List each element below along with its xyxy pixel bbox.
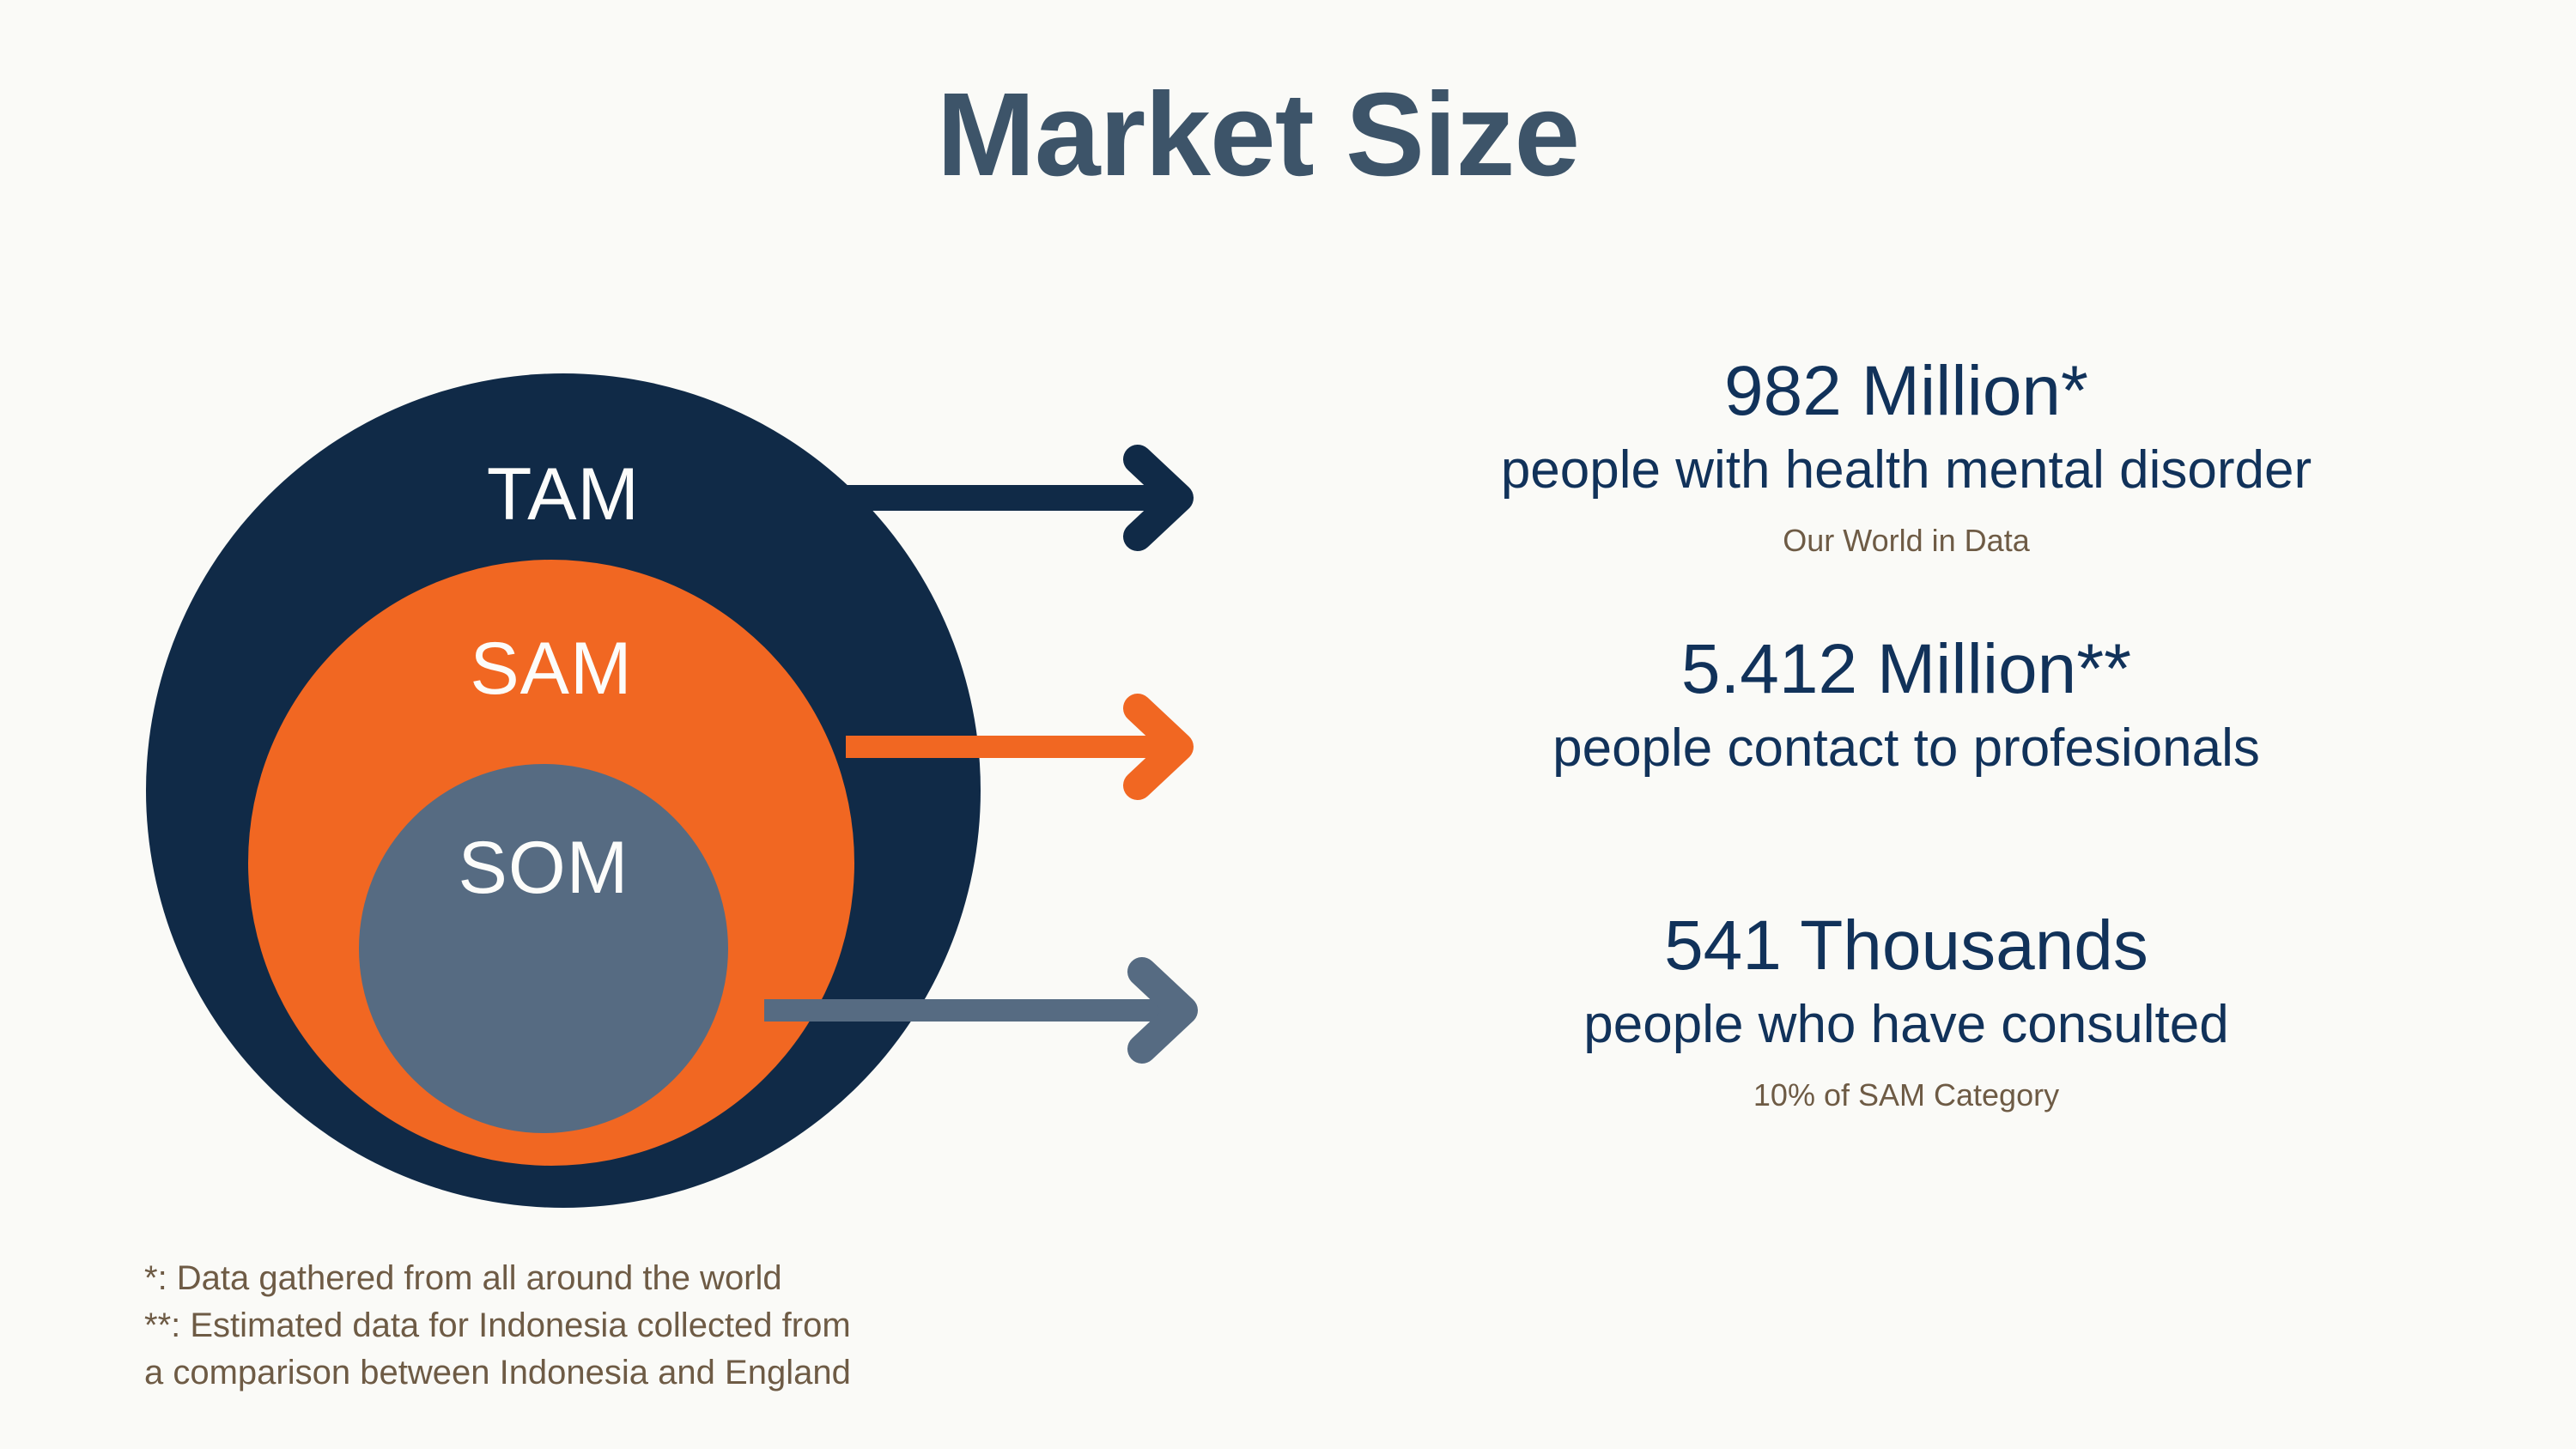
stat-headline-som: 541 Thousands [1348,908,2464,985]
stat-block-tam: 982 Million* people with health mental d… [1348,354,2464,559]
arrow-right-icon-som [764,955,1211,1066]
stat-block-sam: 5.412 Million** people contact to profes… [1348,632,2464,778]
arrow-right-icon-sam [846,691,1206,803]
arrow-right-icon-tam [846,442,1206,554]
stat-source-tam: Our World in Data [1348,522,2464,559]
circle-label-sam: SAM [248,632,854,706]
circle-som[interactable]: SOM [359,764,728,1133]
stat-source-som: 10% of SAM Category [1348,1076,2464,1113]
footnote-line-3: a comparison between Indonesia and Engla… [144,1349,851,1397]
stat-headline-tam: 982 Million* [1348,354,2464,430]
footnotes: *: Data gathered from all around the wor… [144,1255,851,1397]
footnote-line-2: **: Estimated data for Indonesia collect… [144,1302,851,1349]
stat-block-som: 541 Thousands people who have consulted … [1348,908,2464,1113]
circle-label-som: SOM [359,831,728,905]
slide-canvas: Market Size TAM SAM SOM 982 Million* peo… [0,0,2576,1449]
stat-headline-sam: 5.412 Million** [1348,632,2464,708]
stat-description-tam: people with health mental disorder [1348,440,2464,500]
footnote-line-1: *: Data gathered from all around the wor… [144,1255,851,1302]
stat-description-som: people who have consulted [1348,995,2464,1054]
stat-description-sam: people contact to profesionals [1348,718,2464,778]
